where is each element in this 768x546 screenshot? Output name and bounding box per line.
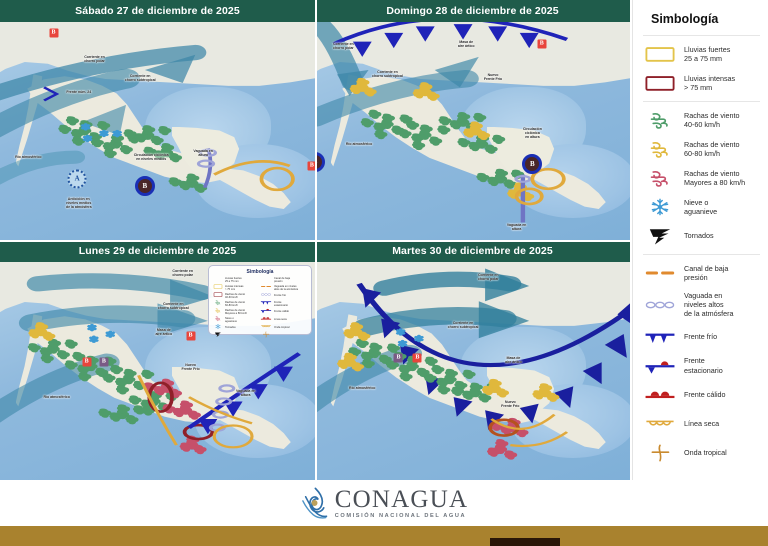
inset-warm-front-icon: [260, 309, 270, 316]
weather-systems-overlay: [315, 22, 630, 240]
legend-item-wind-green: Rachas de viento 40-60 km/h: [643, 109, 760, 131]
conagua-water-eagle-logo: [300, 487, 328, 519]
panel-martes: Martes 30 de diciembre de 2025: [315, 240, 630, 480]
inset-legend-label: Tornados: [225, 327, 258, 330]
inset-tornado-icon: [213, 325, 223, 332]
brand-name: CONAGUA: [335, 487, 468, 512]
snow-icon: [643, 196, 677, 218]
legend-item-label: Rachas de viento Mayores a 80 km/h: [684, 169, 745, 187]
legend-item-tropical-wave: Onda tropical: [643, 442, 760, 464]
dash-orange-icon: [643, 262, 677, 284]
low-pressure-marker: B: [537, 39, 546, 48]
wind-red-icon: [643, 167, 677, 189]
inset-stationary-front-icon: [260, 301, 270, 308]
inset-snow-icon: [213, 317, 223, 324]
legend-item-label: Rachas de viento 60-80 km/h: [684, 140, 740, 158]
legend-item-label: Tornados: [684, 231, 714, 240]
inset-dash-orange-icon: [260, 277, 270, 284]
inset-legend-label: Lluvias fuertes 25 a 75 mm: [225, 278, 258, 283]
low-pressure-marker: B: [186, 332, 195, 341]
weather-forecast-infographic: Sábado 27 de diciembre de 2025: [0, 0, 768, 546]
inset-legend-label: Rachas de viento 40-60 km/h: [225, 294, 258, 299]
legend-item-label: Frente cálido: [684, 390, 726, 399]
legend-item-label: Frente frío: [684, 332, 717, 341]
weather-systems-overlay: [0, 22, 315, 240]
inset-legend-label: Onda tropical: [274, 327, 307, 330]
legend-item-wind-red: Rachas de viento Mayores a 80 km/h: [643, 167, 760, 189]
panel-domingo-title: Domingo 28 de diciembre de 2025: [315, 0, 630, 22]
panel-domingo-map[interactable]: BBBCorriente en chorro polarCorriente en…: [315, 22, 630, 240]
inset-legend-label: Canal de baja presión: [274, 278, 307, 283]
inset-legend-label: Nieve o aguanieve: [225, 318, 258, 323]
panel-sabado-map[interactable]: BABBCorriente en chorro polarCorriente e…: [0, 22, 315, 240]
legend-item-label: Línea seca: [684, 419, 719, 428]
legend-item-stationary-front: Frente estacionario: [643, 355, 760, 377]
legend-divider-top: [643, 35, 760, 36]
panel-lunes-title: Lunes 29 de diciembre de 2025: [0, 240, 315, 262]
inset-wind-green-icon: [213, 293, 223, 300]
legend-item-warm-front: Frente cálido: [643, 384, 760, 406]
legend-divider: [643, 254, 760, 255]
inset-legend-label: Rachas de viento 60-80 km/h: [225, 302, 258, 307]
low-pressure-marker: B: [307, 161, 315, 170]
legend-divider: [643, 101, 760, 102]
panel-sabado: Sábado 27 de diciembre de 2025: [0, 0, 315, 240]
dryline-icon: [643, 413, 677, 435]
footer-gold-bar: [0, 526, 768, 546]
brand-text: CONAGUA COMISIÓN NACIONAL DEL AGUA: [335, 487, 468, 520]
legend-item-rect-yellow: Lluvias fuertes 25 a 75 mm: [643, 43, 760, 65]
wind-green-icon: [643, 109, 677, 131]
inset-dryline-icon: [260, 317, 270, 324]
footer-dark-block: [490, 538, 560, 546]
legend-item-dryline: Línea seca: [643, 413, 760, 435]
cold-front-icon: [643, 326, 677, 348]
low-pressure-marker: B: [413, 353, 422, 362]
inset-trough-icon: [260, 285, 270, 292]
footer-branding: CONAGUA COMISIÓN NACIONAL DEL AGUA: [0, 480, 768, 526]
trough-icon: [643, 294, 677, 316]
low-pressure-marker: B: [99, 358, 108, 367]
panel-martes-title: Martes 30 de diciembre de 2025: [315, 240, 630, 262]
inset-wind-yellow-icon: [213, 301, 223, 308]
low-pressure-marker: B: [49, 28, 58, 37]
legend-item-cold-front: Frente frío: [643, 326, 760, 348]
legend-item-wind-yellow: Rachas de viento 60-80 km/h: [643, 138, 760, 160]
cyclonic-circulation-symbol: B: [522, 154, 542, 174]
panel-lunes: Lunes 29 de diciembre de 2025: [0, 240, 315, 480]
legend-item-label: Lluvias intensas > 75 mm: [684, 74, 735, 92]
legend-item-label: Nieve o aguanieve: [684, 198, 717, 216]
low-pressure-marker: B: [82, 358, 91, 367]
inset-rect-yellow-icon: [213, 277, 223, 284]
legend-panel: Simbología Lluvias fuertes 25 a 75 mmLlu…: [632, 0, 768, 490]
legend-item-label: Lluvias fuertes 25 a 75 mm: [684, 45, 730, 63]
legend-item-label: Frente estacionario: [684, 356, 723, 374]
legend-item-label: Rachas de viento 40-60 km/h: [684, 111, 740, 129]
legend-item-trough: Vaguada en niveles altos de la atmósfera: [643, 291, 760, 319]
brand-subtitle: COMISIÓN NACIONAL DEL AGUA: [335, 514, 468, 520]
legend-item-tornado: Tornados: [643, 225, 760, 247]
inset-legend-label: Frente estacionario: [274, 302, 307, 307]
anticyclone-symbol: A: [68, 169, 87, 188]
inset-tropical-wave-icon: [260, 325, 270, 332]
tornado-icon: [643, 225, 677, 247]
legend-title: Simbología: [651, 12, 760, 26]
inset-legend-label: Frente frío: [274, 295, 307, 298]
legend-item-dash-orange: Canal de baja presión: [643, 262, 760, 284]
weather-systems-overlay: [315, 262, 630, 480]
inset-legend-label: Rachas de viento Mayores a 80 km/h: [225, 310, 258, 315]
wind-yellow-icon: [643, 138, 677, 160]
inset-legend-label: Vaguada en niveles altos de la atmósfera: [274, 286, 307, 291]
inset-legend-grid: Lluvias fuertes 25 a 75 mm Canal de baja…: [213, 277, 307, 332]
legend-rows: Lluvias fuertes 25 a 75 mmLluvias intens…: [643, 43, 760, 464]
low-pressure-marker: B: [394, 353, 403, 362]
warm-front-icon: [643, 384, 677, 406]
inset-rect-red-icon: [213, 285, 223, 292]
legend-item-snow: Nieve o aguanieve: [643, 196, 760, 218]
rect-red-icon: [643, 72, 677, 94]
panel-martes-map[interactable]: BBCorriente en chorro polarCorriente en …: [315, 262, 630, 480]
inset-legend-title: Simbología: [213, 269, 307, 275]
legend-item-label: Onda tropical: [684, 448, 727, 457]
rect-yellow-icon: [643, 43, 677, 65]
inset-legend-label: Frente cálido: [274, 311, 307, 314]
tropical-wave-icon: [643, 442, 677, 464]
legend-item-label: Canal de baja presión: [684, 264, 728, 282]
panel-lunes-map[interactable]: BBBCorriente en chorro polarCorriente en…: [0, 262, 315, 480]
inset-legend-label: Lluvias intensas > 75 mm: [225, 286, 258, 291]
cyclonic-circulation-symbol: B: [135, 176, 155, 196]
panel-domingo: Domingo 28 de diciembre de 2025: [315, 0, 630, 240]
panel-sabado-title: Sábado 27 de diciembre de 2025: [0, 0, 315, 22]
inset-legend-label: Línea seca: [274, 319, 307, 322]
legend-item-label: Vaguada en niveles altos de la atmósfera: [684, 291, 734, 319]
inset-wind-red-icon: [213, 309, 223, 316]
legend-item-rect-red: Lluvias intensas > 75 mm: [643, 72, 760, 94]
inset-legend: Simbología Lluvias fuertes 25 a 75 mm Ca…: [208, 265, 312, 335]
inset-cold-front-icon: [260, 293, 270, 300]
panel-horizontal-divider: [0, 240, 630, 242]
stationary-front-icon: [643, 355, 677, 377]
